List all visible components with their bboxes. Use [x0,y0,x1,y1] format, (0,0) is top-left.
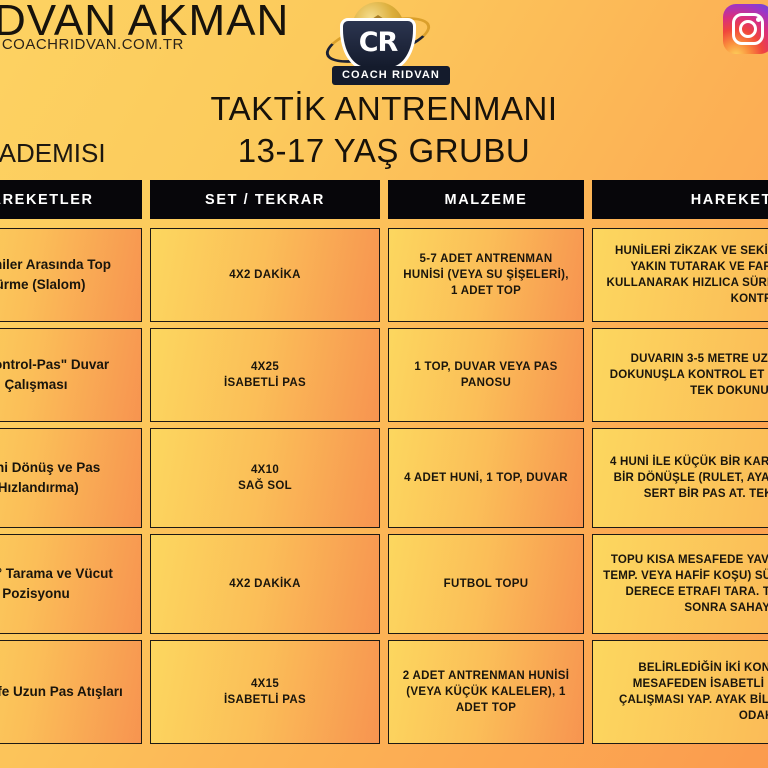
shield-icon: CR [340,18,416,70]
logo-initials: CR [359,27,398,58]
table-row: 1. Huniler Arasında Top Sürme (Slalom) 4… [0,228,768,322]
drills-table: HAREKETLER SET / TEKRAR MALZEME HAREKET … [0,180,768,750]
cell-equipment: 5-7 ADET ANTRENMAN HUNİSİ (VEYA SU ŞİŞEL… [388,228,584,322]
cell-sets: 4X2 DAKİKA [150,534,380,634]
sets-text: 4X25 İSABETLİ PAS [224,359,306,391]
cell-sets: 4X15 İSABETLİ PAS [150,640,380,744]
equipment-text: 5-7 ADET ANTRENMAN HUNİSİ (VEYA SU ŞİŞEL… [399,251,573,299]
equipment-text: 2 ADET ANTRENMAN HUNİSİ (VEYA KÜÇÜK KALE… [399,668,573,716]
cell-drill-name: 4. 360° Tarama ve Vücut Pozisyonu [0,534,142,634]
description-text: BELİRLEDİĞİN İKİ KONİ/KALE ARASINA UZUN … [603,660,768,724]
cell-sets: 4X2 DAKİKA [150,228,380,322]
cell-description: 4 HUNİ İLE KÜÇÜK BİR KARE KUR. TOPU SÜRE… [592,428,768,528]
column-header-hareket-yapilisi: HAREKET YAPILIŞI [592,180,768,219]
cell-drill-name: 3. Ani Dönüş ve Pas (Hızlandırma) [0,428,142,528]
table-header-row: HAREKETLER SET / TEKRAR MALZEME HAREKET … [0,180,768,219]
table-row: 2. "Kontrol-Pas" Duvar Çalışması 4X25 İS… [0,328,768,422]
drill-name-text: 2. "Kontrol-Pas" Duvar Çalışması [0,355,131,395]
coach-ridvan-logo: CR COACH RIDVAN [308,2,448,76]
cell-sets: 4X10 SAĞ SOL [150,428,380,528]
description-text: 4 HUNİ İLE KÜÇÜK BİR KARE KUR. TOPU SÜRE… [603,454,768,502]
cell-drill-name: 1. Huniler Arasında Top Sürme (Slalom) [0,228,142,322]
cell-description: DUVARIN 3-5 METRE UZAĞINDA DUR. TOPU TEK… [592,328,768,422]
cell-description: TOPU KISA MESAFEDE YAVAŞÇA SÜRERKEN (YÜR… [592,534,768,634]
drill-name-text: 4. 360° Tarama ve Vücut Pozisyonu [0,564,131,604]
cell-equipment: 1 TOP, DUVAR VEYA PAS PANOSU [388,328,584,422]
description-text: TOPU KISA MESAFEDE YAVAŞÇA SÜRERKEN (YÜR… [603,552,768,616]
cell-description: BELİRLEDİĞİN İKİ KONİ/KALE ARASINA UZUN … [592,640,768,744]
instagram-lens [739,20,757,38]
instagram-dot [756,17,761,22]
cell-equipment: FUTBOL TOPU [388,534,584,634]
sets-text: 4X15 İSABETLİ PAS [224,676,306,708]
equipment-text: FUTBOL TOPU [444,576,529,592]
cell-equipment: 2 ADET ANTRENMAN HUNİSİ (VEYA KÜÇÜK KALE… [388,640,584,744]
drill-name-text: 3. Ani Dönüş ve Pas (Hızlandırma) [0,458,131,498]
sets-text: 4X2 DAKİKA [229,267,300,283]
page-title: TAKTİK ANTRENMANI 13-17 YAŞ GRUBU [0,88,768,172]
cell-drill-name: 5. Hedefe Uzun Pas Atışları [0,640,142,744]
table-row: 3. Ani Dönüş ve Pas (Hızlandırma) 4X10 S… [0,428,768,528]
table-row: 5. Hedefe Uzun Pas Atışları 4X15 İSABETL… [0,640,768,744]
description-text: DUVARIN 3-5 METRE UZAĞINDA DUR. TOPU TEK… [603,351,768,399]
title-line-2: 13-17 YAŞ GRUBU [0,130,768,172]
table-row: 4. 360° Tarama ve Vücut Pozisyonu 4X2 DA… [0,534,768,634]
drill-name-text: 1. Huniler Arasında Top Sürme (Slalom) [0,255,131,295]
equipment-text: 1 TOP, DUVAR VEYA PAS PANOSU [399,359,573,391]
column-header-set-tekrar: SET / TEKRAR [150,180,380,219]
instagram-icon[interactable] [723,4,768,54]
cell-description: HUNİLERİ ZİKZAK VE SEKİZ ÇİZEREK, TOPU A… [592,228,768,322]
brand-website-url: WWW.COACHRIDVAN.COM.TR [0,36,184,53]
sets-text: 4X2 DAKİKA [229,576,300,592]
cell-drill-name: 2. "Kontrol-Pas" Duvar Çalışması [0,328,142,422]
sets-text: 4X10 SAĞ SOL [238,462,292,494]
equipment-text: 4 ADET HUNİ, 1 TOP, DUVAR [404,470,568,486]
cell-sets: 4X25 İSABETLİ PAS [150,328,380,422]
cell-equipment: 4 ADET HUNİ, 1 TOP, DUVAR [388,428,584,528]
drill-name-text: 5. Hedefe Uzun Pas Atışları [0,682,123,702]
title-line-1: TAKTİK ANTRENMANI [0,88,768,130]
column-header-malzeme: MALZEME [388,180,584,219]
description-text: HUNİLERİ ZİKZAK VE SEKİZ ÇİZEREK, TOPU A… [603,243,768,307]
logo-label: COACH RIDVAN [332,66,450,85]
column-header-hareketler: HAREKETLER [0,180,142,219]
